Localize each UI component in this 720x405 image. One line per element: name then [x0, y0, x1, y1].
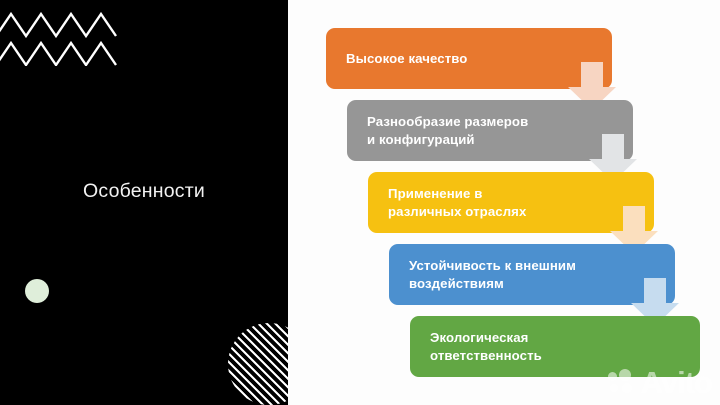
left-title-panel: Особенности [0, 0, 288, 405]
hatched-circle-icon [228, 323, 288, 405]
page-title: Особенности [0, 180, 288, 203]
flow-step-4-line-1: Устойчивость к внешним [409, 257, 675, 275]
avito-watermark: Avito [608, 365, 712, 399]
circle-dot-icon [25, 279, 49, 303]
flow-step-5-line-1: Экологическая [430, 329, 700, 347]
flow-step-3-line-1: Применение в [388, 185, 654, 203]
avito-watermark-text: Avito [641, 367, 712, 398]
avito-dots-logo-icon [608, 369, 638, 395]
zigzag-icon [0, 8, 120, 66]
presentation-slide: Особенности Высокое качество Разнообрази… [0, 0, 720, 405]
flow-step-2-line-1: Разнообразие размеров [367, 113, 633, 131]
flow-step-5-line-2: ответственность [430, 347, 700, 365]
features-flow-diagram: Высокое качество Разнообразие размеров и… [288, 0, 720, 405]
